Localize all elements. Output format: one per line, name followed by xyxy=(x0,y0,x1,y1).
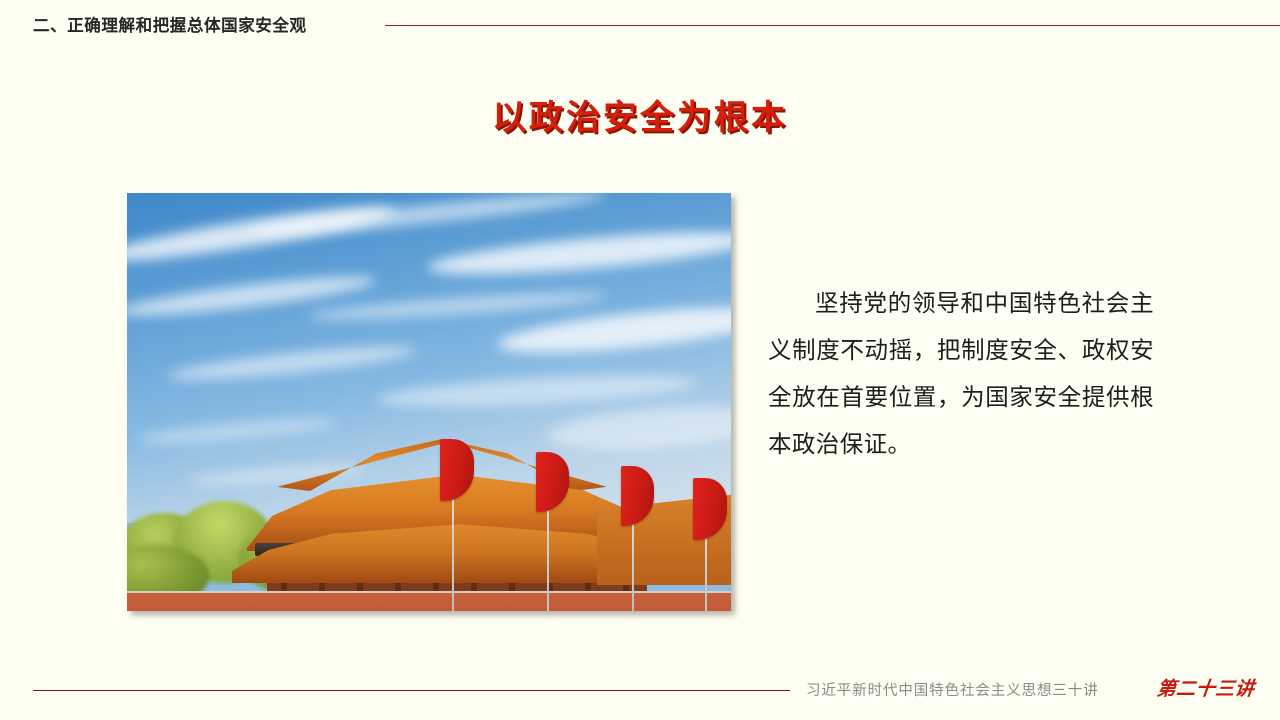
header-section-label: 二、正确理解和把握总体国家安全观 xyxy=(33,12,307,36)
footer-lecture-badge: 第二十三讲 xyxy=(1156,674,1256,701)
photo-canvas: 中华人民共和国万岁 世界人民大团结万岁 xyxy=(127,193,731,611)
slide-header: 二、正确理解和把握总体国家安全观 xyxy=(0,0,1280,52)
page-title: 以政治安全为根本 xyxy=(0,90,1280,139)
slide-root: 二、正确理解和把握总体国家安全观 以政治安全为根本 xyxy=(0,0,1280,720)
tiananmen-gate-photo: 中华人民共和国万岁 世界人民大团结万岁 xyxy=(127,193,731,611)
gate-red-wall: 中华人民共和国万岁 世界人民大团结万岁 xyxy=(127,593,731,611)
footer-series-title: 习近平新时代中国特色社会主义思想三十讲 xyxy=(806,679,1099,700)
header-divider-line xyxy=(385,25,1280,26)
footer-divider-line xyxy=(33,690,790,691)
body-paragraph: 坚持党的领导和中国特色社会主义制度不动摇，把制度安全、政权安全放在首要位置，为国… xyxy=(768,280,1154,468)
